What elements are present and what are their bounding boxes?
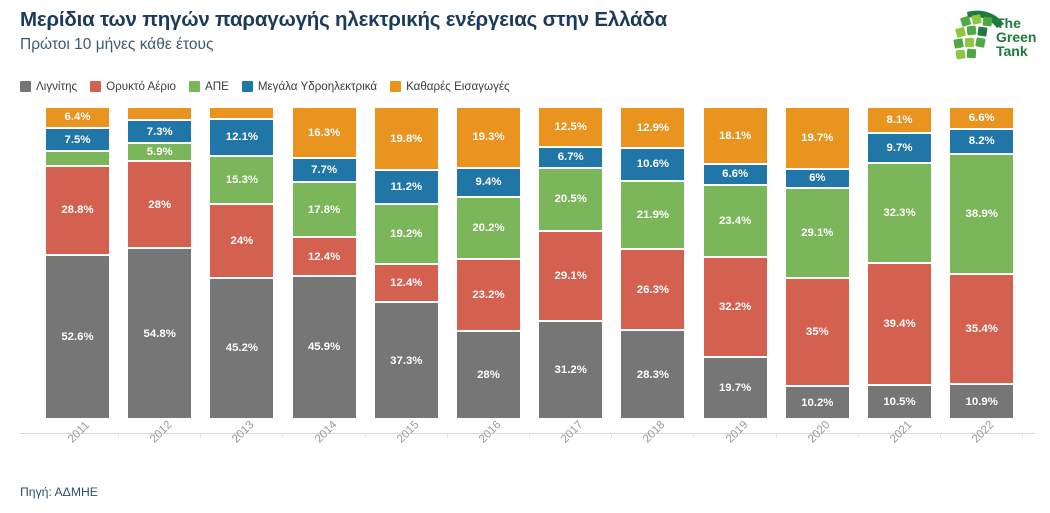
legend-label: Ορυκτό Αέριο: [106, 80, 176, 93]
bar-segment-label: 35.4%: [966, 323, 998, 335]
bar-segment[interactable]: 23.2%: [457, 259, 520, 331]
bar-segment-label: 7.3%: [147, 126, 173, 138]
x-tickmark: [529, 433, 530, 438]
bar-segment-label: 52.6%: [61, 331, 93, 343]
bar-segment-label: 37.3%: [390, 355, 422, 367]
chart-legend: ΛιγνίτηςΟρυκτό ΑέριοΑΠΕΜεγάλα Υδροηλεκτρ…: [20, 80, 510, 93]
bar-segment[interactable]: 20.2%: [457, 197, 520, 260]
bar-segment[interactable]: 12.4%: [293, 237, 356, 275]
legend-swatch-icon: [20, 81, 31, 92]
bar-segment-label: 15.3%: [226, 174, 258, 186]
bar-segment-label: 8.2%: [969, 135, 995, 147]
bar-segment[interactable]: 8.2%: [950, 129, 1013, 154]
bar-segment-label: 28.3%: [637, 369, 669, 381]
x-tickmark: [282, 433, 283, 438]
bar-segment[interactable]: 24%: [210, 204, 273, 278]
bar-segment[interactable]: 9.4%: [457, 168, 520, 197]
bar-segment[interactable]: 12.1%: [210, 119, 273, 157]
legend-item-3[interactable]: Μεγάλα Υδροηλεκτρικά: [242, 80, 377, 93]
bar-segment-label: 10.9%: [966, 396, 998, 408]
bar-segment-label: 26.3%: [637, 284, 669, 296]
bar-segment[interactable]: 23.4%: [704, 185, 767, 258]
bar-segment-label: 6.7%: [558, 151, 584, 163]
bar-segment-label: 45.9%: [308, 341, 340, 353]
bar-segment-label: 24%: [230, 235, 253, 247]
bar-segment-label: 31.2%: [555, 364, 587, 376]
bar-segment[interactable]: 28.8%: [46, 166, 109, 255]
legend-swatch-icon: [390, 81, 401, 92]
bar-group-2014[interactable]: 45.9%12.4%17.8%7.7%16.3%: [293, 108, 356, 418]
bar-segment[interactable]: 28%: [128, 161, 191, 248]
legend-swatch-icon: [242, 81, 253, 92]
bar-segment[interactable]: 52.6%: [46, 255, 109, 418]
bar-segment[interactable]: 9.7%: [868, 133, 931, 163]
bar-segment[interactable]: 17.8%: [293, 182, 356, 237]
bar-segment[interactable]: 7.7%: [293, 158, 356, 182]
bar-group-2017[interactable]: 31.2%29.1%20.5%6.7%12.5%: [539, 108, 602, 418]
bar-segment[interactable]: [128, 108, 191, 120]
bar-group-2022[interactable]: 10.9%35.4%38.9%8.2%6.6%: [950, 108, 1013, 418]
bar-segment-label: 6.6%: [969, 112, 995, 124]
x-tickmark: [776, 433, 777, 438]
bar-segment-label: 12.9%: [637, 122, 669, 134]
bar-segment-label: 12.5%: [555, 121, 587, 133]
plot-area: 52.6%28.8%7.5%6.4%54.8%28%5.9%7.3%45.2%2…: [0, 108, 1050, 433]
bar-segment-label: 54.8%: [144, 328, 176, 340]
x-tickmark: [118, 433, 119, 438]
bar-segment-label: 8.1%: [887, 114, 913, 126]
bar-segment-label: 5.9%: [147, 146, 173, 158]
bar-segment-label: 20.5%: [555, 193, 587, 205]
legend-label: Μεγάλα Υδροηλεκτρικά: [258, 80, 377, 93]
bar-group-2020[interactable]: 10.2%35%29.1%6%19.7%: [786, 108, 849, 418]
bar-segment-label: 20.2%: [472, 222, 504, 234]
bar-segment[interactable]: 5.9%: [128, 143, 191, 161]
bar-segment-label: 11.2%: [390, 181, 422, 193]
bar-segment[interactable]: 29.1%: [786, 188, 849, 278]
bar-segment[interactable]: 19.3%: [457, 108, 520, 168]
bar-segment[interactable]: 21.9%: [621, 181, 684, 249]
bar-group-2016[interactable]: 28%23.2%20.2%9.4%19.3%: [457, 108, 520, 418]
bar-group-2011[interactable]: 52.6%28.8%7.5%6.4%: [46, 108, 109, 418]
bar-segment-label: 9.7%: [887, 142, 913, 154]
bar-segment-label: 6.4%: [65, 111, 91, 123]
page-subtitle: Πρώτοι 10 μήνες κάθε έτους: [20, 36, 213, 54]
x-tickmark: [693, 433, 694, 438]
bar-segment[interactable]: 32.2%: [704, 257, 767, 357]
x-tickmark: [1022, 433, 1023, 438]
logo-mark-icon: The Green Tank: [934, 4, 1042, 66]
x-tickmark: [940, 433, 941, 438]
bar-segment-label: 23.2%: [472, 289, 504, 301]
bar-segment-label: 12.4%: [308, 251, 340, 263]
bar-segment-label: 16.3%: [308, 127, 340, 139]
bar-segment[interactable]: 45.9%: [293, 276, 356, 418]
legend-swatch-icon: [189, 81, 200, 92]
bar-segment[interactable]: 19.2%: [375, 204, 438, 264]
bar-segment-label: 38.9%: [966, 208, 998, 220]
bar-segment-label: 39.4%: [883, 318, 915, 330]
bar-segment[interactable]: 19.8%: [375, 108, 438, 169]
x-tickmark: [200, 433, 201, 438]
page-title: Μερίδια των πηγών παραγωγής ηλεκτρικής ε…: [20, 8, 667, 32]
bar-segment-label: 21.9%: [637, 209, 669, 221]
bar-segment[interactable]: 18.1%: [704, 108, 767, 164]
legend-label: Λιγνίτης: [36, 80, 77, 93]
bar-segment[interactable]: 19.7%: [786, 108, 849, 169]
bar-segment[interactable]: 6.6%: [950, 108, 1013, 128]
bar-segment-label: 19.7%: [801, 132, 833, 144]
bar-segment[interactable]: 12.9%: [621, 108, 684, 148]
bar-segment-label: 12.4%: [390, 277, 422, 289]
bar-group-2021[interactable]: 10.5%39.4%32.3%9.7%8.1%: [868, 108, 931, 418]
x-tickmark: [611, 433, 612, 438]
bar-segment[interactable]: 12.4%: [375, 264, 438, 302]
legend-item-0[interactable]: Λιγνίτης: [20, 80, 77, 93]
bar-group-2018[interactable]: 28.3%26.3%21.9%10.6%12.9%: [621, 108, 684, 418]
bar-segment-label: 29.1%: [801, 227, 833, 239]
bar-segment-label: 19.2%: [390, 228, 422, 240]
bar-segment-label: 17.8%: [308, 204, 340, 216]
legend-item-4[interactable]: Καθαρές Εισαγωγές: [390, 80, 510, 93]
bar-segment[interactable]: 16.3%: [293, 108, 356, 158]
legend-item-2[interactable]: ΑΠΕ: [189, 80, 229, 93]
source-note: Πηγή: ΑΔΜΗΕ: [20, 485, 98, 499]
bar-segment-label: 10.5%: [883, 396, 915, 408]
bar-segment-label: 32.3%: [883, 207, 915, 219]
bar-segment[interactable]: 15.3%: [210, 156, 273, 203]
bar-segment-label: 6.6%: [722, 168, 748, 180]
bar-segment[interactable]: 35%: [786, 278, 849, 387]
bar-segment-label: 28%: [148, 199, 171, 211]
bar-segment-label: 6%: [809, 172, 825, 184]
x-tickmark: [447, 433, 448, 438]
bar-segment-label: 28%: [477, 369, 500, 381]
bar-segment-label: 7.5%: [65, 134, 91, 146]
bar-segment-label: 10.6%: [637, 158, 669, 170]
bar-segment-label: 28.8%: [61, 204, 93, 216]
bar-segment[interactable]: 32.3%: [868, 163, 931, 263]
bar-segment[interactable]: 6.4%: [46, 108, 109, 128]
bar-segment[interactable]: 54.8%: [128, 248, 191, 418]
bar-segment[interactable]: 38.9%: [950, 154, 1013, 275]
legend-item-1[interactable]: Ορυκτό Αέριο: [90, 80, 176, 93]
bar-segment-label: 29.1%: [555, 270, 587, 282]
bar-segment[interactable]: [46, 151, 109, 166]
bar-segment[interactable]: 6.6%: [704, 164, 767, 184]
bar-segment[interactable]: 7.5%: [46, 128, 109, 151]
legend-label: Καθαρές Εισαγωγές: [406, 80, 510, 93]
bar-segment[interactable]: 11.2%: [375, 170, 438, 205]
bar-segment[interactable]: 6.7%: [539, 147, 602, 168]
bar-segment[interactable]: 20.5%: [539, 168, 602, 232]
chart-page: Μερίδια των πηγών παραγωγής ηλεκτρικής ε…: [0, 0, 1050, 513]
bar-segment[interactable]: 8.1%: [868, 108, 931, 133]
bar-segment-label: 7.7%: [311, 164, 337, 176]
bar-segment[interactable]: 29.1%: [539, 231, 602, 321]
the-green-tank-logo: The Green Tank: [934, 4, 1042, 66]
bar-group-2013[interactable]: 45.2%24%15.3%12.1%: [210, 108, 273, 418]
bar-segment-label: 10.2%: [801, 397, 833, 409]
bar-segment[interactable]: 39.4%: [868, 263, 931, 385]
bar-segment[interactable]: 37.3%: [375, 302, 438, 418]
bar-segment[interactable]: [210, 108, 273, 119]
bar-segment-label: 19.3%: [472, 131, 504, 143]
bar-segment[interactable]: 7.3%: [128, 120, 191, 143]
bar-segment[interactable]: 35.4%: [950, 274, 1013, 384]
bar-segment-label: 9.4%: [476, 176, 502, 188]
bar-segment-label: 23.4%: [719, 215, 751, 227]
bar-segment-label: 35%: [806, 326, 829, 338]
bar-segment[interactable]: 6%: [786, 169, 849, 188]
legend-swatch-icon: [90, 81, 101, 92]
bar-segment[interactable]: 26.3%: [621, 249, 684, 331]
bar-segment[interactable]: 45.2%: [210, 278, 273, 418]
legend-label: ΑΠΕ: [205, 80, 229, 93]
x-tickmark: [858, 433, 859, 438]
x-axis-line: [20, 433, 1035, 434]
x-tickmark: [365, 433, 366, 438]
bar-segment-label: 19.7%: [719, 382, 751, 394]
bar-segment-label: 32.2%: [719, 301, 751, 313]
bar-segment-label: 19.8%: [390, 133, 422, 145]
bar-segment-label: 45.2%: [226, 342, 258, 354]
bar-group-2015[interactable]: 37.3%12.4%19.2%11.2%19.8%: [375, 108, 438, 418]
logo-line-3: Tank: [996, 43, 1028, 59]
bar-segment-label: 18.1%: [719, 130, 751, 142]
bar-segment[interactable]: 12.5%: [539, 108, 602, 147]
bar-group-2012[interactable]: 54.8%28%5.9%7.3%: [128, 108, 191, 418]
bar-group-2019[interactable]: 19.7%32.2%23.4%6.6%18.1%: [704, 108, 767, 418]
bar-segment[interactable]: 10.6%: [621, 148, 684, 181]
bar-segment-label: 12.1%: [226, 131, 258, 143]
